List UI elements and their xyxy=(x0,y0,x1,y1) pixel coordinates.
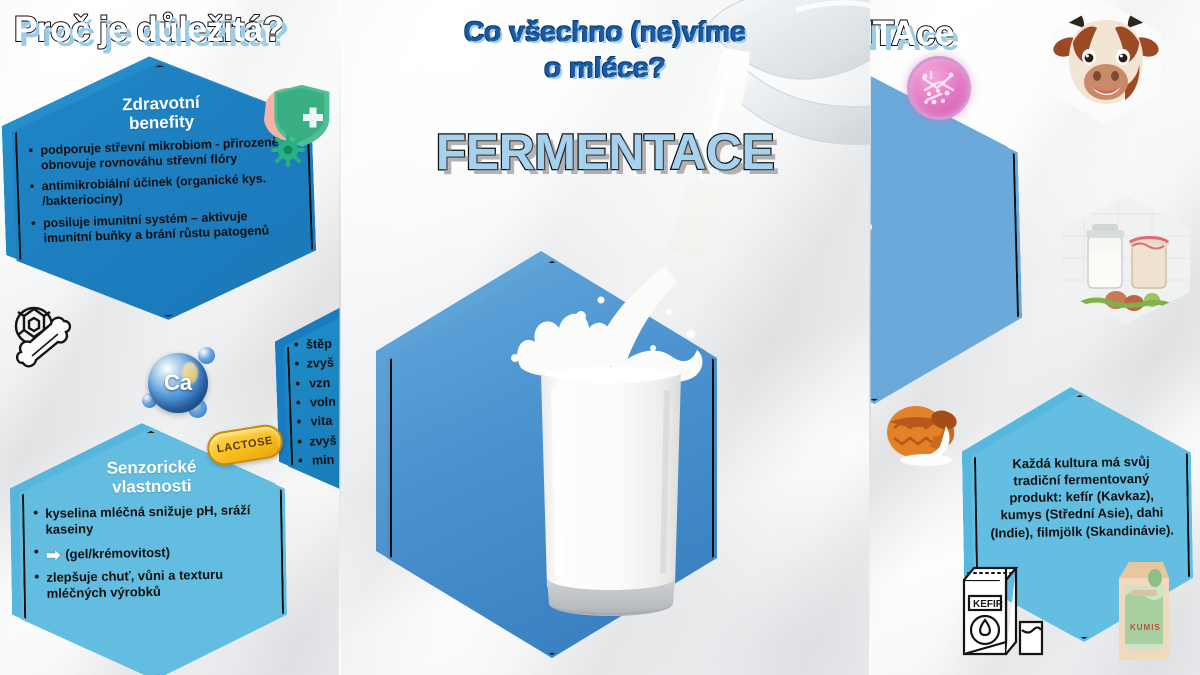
arrow-right-icon: ➡ xyxy=(46,546,61,563)
card-body: y proces, při rganismy – erie mléčného –… xyxy=(870,174,1012,317)
slide-stage: Ca LACTOSE s štěp zvyš vzn voln vita zvy… xyxy=(0,0,1200,675)
fermentace-word-title: FERMENTACE xyxy=(340,123,870,181)
panel-mid: Co všechno (ne)víme o mléce? FERMENTACE xyxy=(340,0,870,675)
list-item: antimikrobiální účinek (organické kys. /… xyxy=(30,171,299,211)
cow-photo-hexagon xyxy=(1051,2,1161,124)
panel-mid-heading: Co všechno (ne)víme o mléce? xyxy=(340,14,870,86)
list-item: kyselina mléčná snižuje pH, sráží kasein… xyxy=(33,502,272,538)
muscle-shield-virus-icon xyxy=(258,78,340,172)
kumis-label: KUMIS xyxy=(1130,623,1161,632)
card-title: TACE KA xyxy=(870,116,1008,170)
card-sensory-properties[interactable]: Senzorické vlastnosti kyselina mléčná sn… xyxy=(18,426,288,675)
calcium-molecule-icon: Ca xyxy=(140,345,216,421)
list-item: štěp xyxy=(294,330,340,353)
heading-line-2: o mléce? xyxy=(340,50,870,86)
card-bullets: kyselina mléčná snižuje pH, sráží kasein… xyxy=(29,502,277,602)
clay-pot-pouring-icon xyxy=(884,390,978,470)
pink-bacteria-petri-icon xyxy=(907,56,971,120)
kumis-carton-icon: KUMIS xyxy=(1113,556,1175,664)
card-fermentation-definition[interactable]: TACE KA y proces, při rganismy – erie ml… xyxy=(870,70,1024,408)
kefir-carton-icon: KEFIR xyxy=(946,560,1050,660)
body-line: kty xyxy=(870,291,1012,317)
list-item: zlepšuje chuť, vůni a texturu mléčných v… xyxy=(34,566,273,602)
arrow-note-label: (gel/krémovitost) xyxy=(65,544,170,561)
list-item: posiluje imunitní systém – aktivuje imun… xyxy=(31,207,300,247)
panel-right: KEFIR KUMIS TACE KA y proces, při xyxy=(870,0,1200,675)
panel-left: Ca LACTOSE s štěp zvyš vzn voln vita zvy… xyxy=(0,0,340,675)
card-paragraph: Každá kultura má svůj tradiční fermentov… xyxy=(981,452,1182,541)
arrow-note: ➡(gel/krémovitost) xyxy=(34,541,272,563)
card-title-line2: KA xyxy=(870,140,1008,170)
kefir-label: KEFIR xyxy=(973,599,1004,610)
fermented-jars-photo-hexagon xyxy=(1062,196,1190,324)
card-title-line2: vlastnosti xyxy=(29,475,275,498)
panel-left-title: Proč je důležitá? xyxy=(14,10,284,50)
milk-splash-glass-photo xyxy=(501,238,721,638)
calcium-symbol-label: Ca xyxy=(140,345,216,421)
heading-line-1: Co všechno (ne)víme xyxy=(340,14,870,50)
panel-right-title: FERMENTAce xyxy=(870,14,954,54)
bone-calcium-icon xyxy=(6,300,90,384)
lactose-label: LACTOSE xyxy=(216,435,274,456)
card-bullets: štěp zvyš vzn voln vita zvyš min xyxy=(294,330,340,469)
list-item: podporuje střevní mikrobiom - přirozeně … xyxy=(28,134,297,174)
